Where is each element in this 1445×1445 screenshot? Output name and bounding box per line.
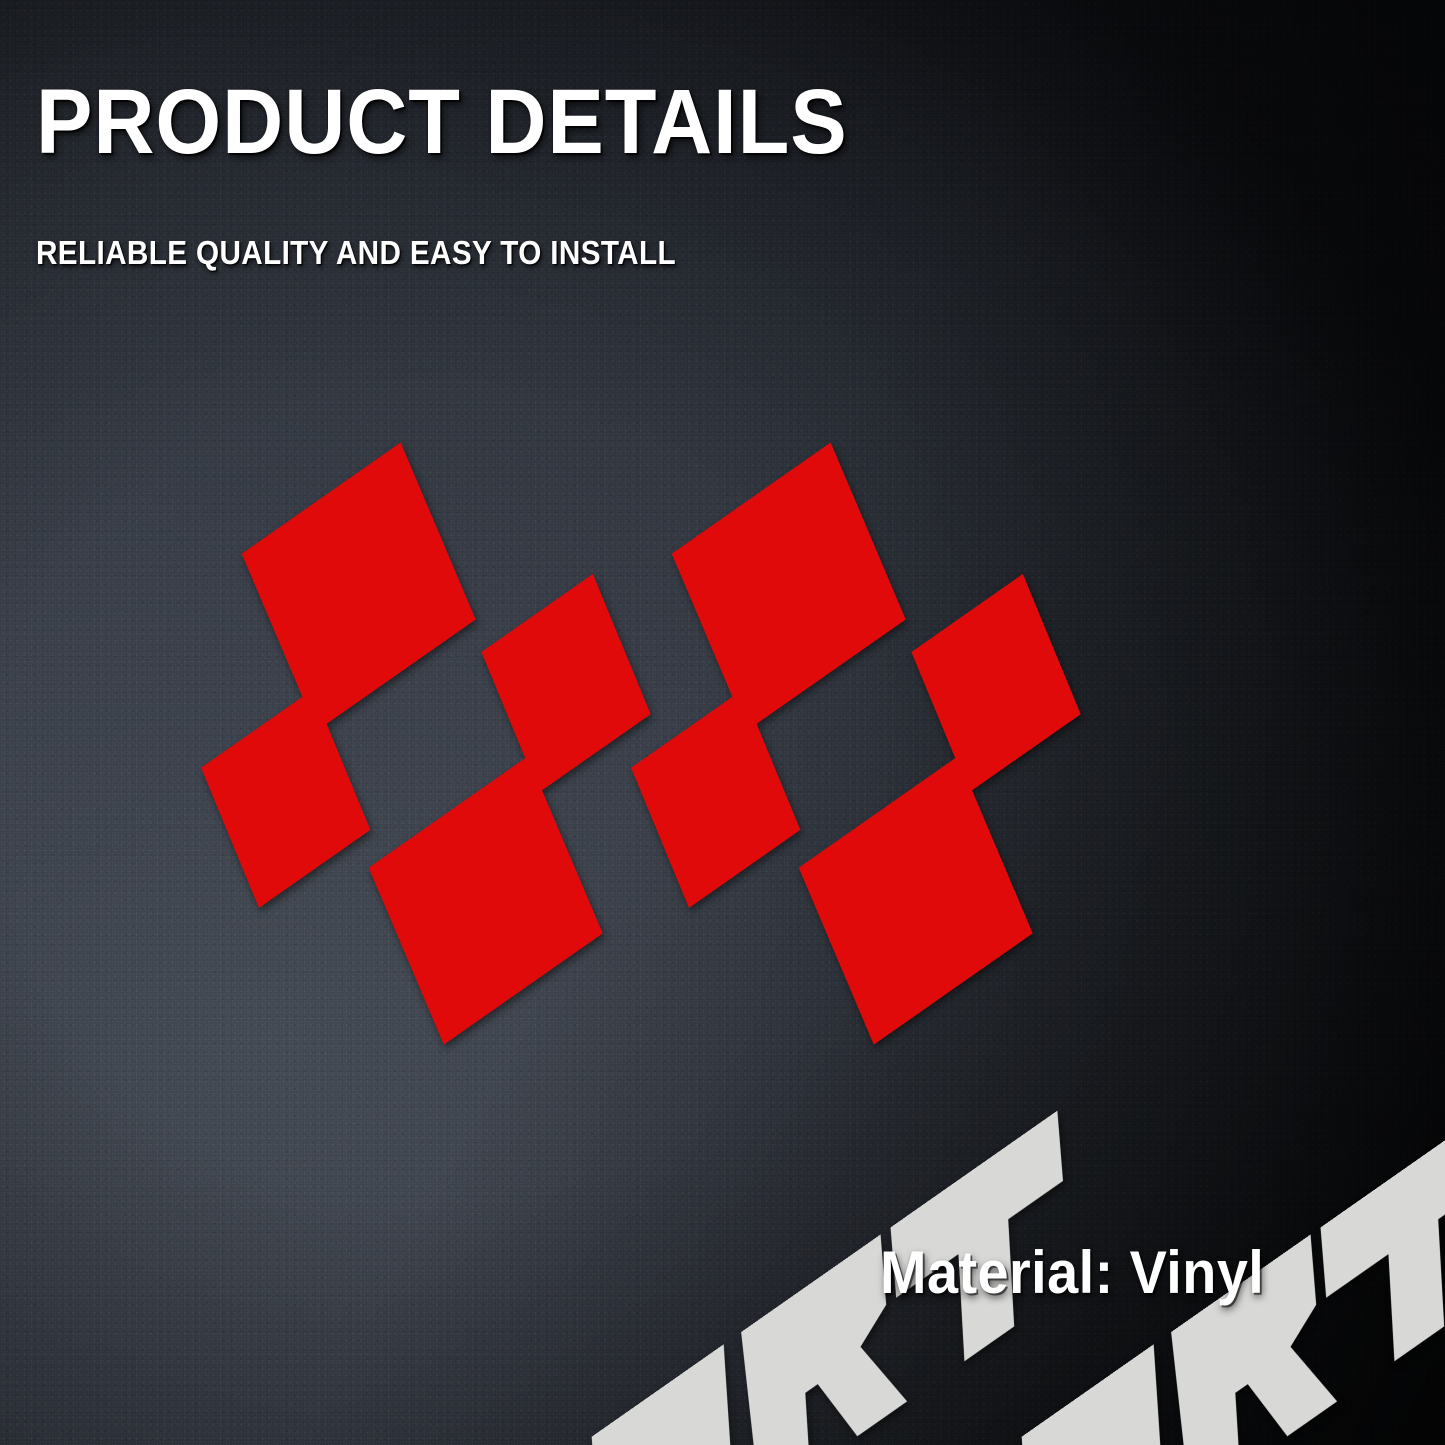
sport-decal-right	[490, 330, 1250, 1330]
page-subtitle: RELIABLE QUALITY AND EASY TO INSTALL	[36, 236, 676, 269]
checker-square-2	[639, 443, 939, 731]
checker-square-1	[604, 690, 827, 908]
material-label: Material: Vinyl	[880, 1243, 1264, 1303]
page-title: PRODUCT DETAILS	[36, 78, 848, 166]
checker-square-3	[766, 756, 1066, 1044]
checker-square-2	[209, 443, 509, 731]
checker-square-4	[884, 574, 1107, 792]
product-detail-image: PRODUCT DETAILS RELIABLE QUALITY AND EAS…	[0, 0, 1445, 1445]
checker-square-1	[174, 690, 397, 908]
